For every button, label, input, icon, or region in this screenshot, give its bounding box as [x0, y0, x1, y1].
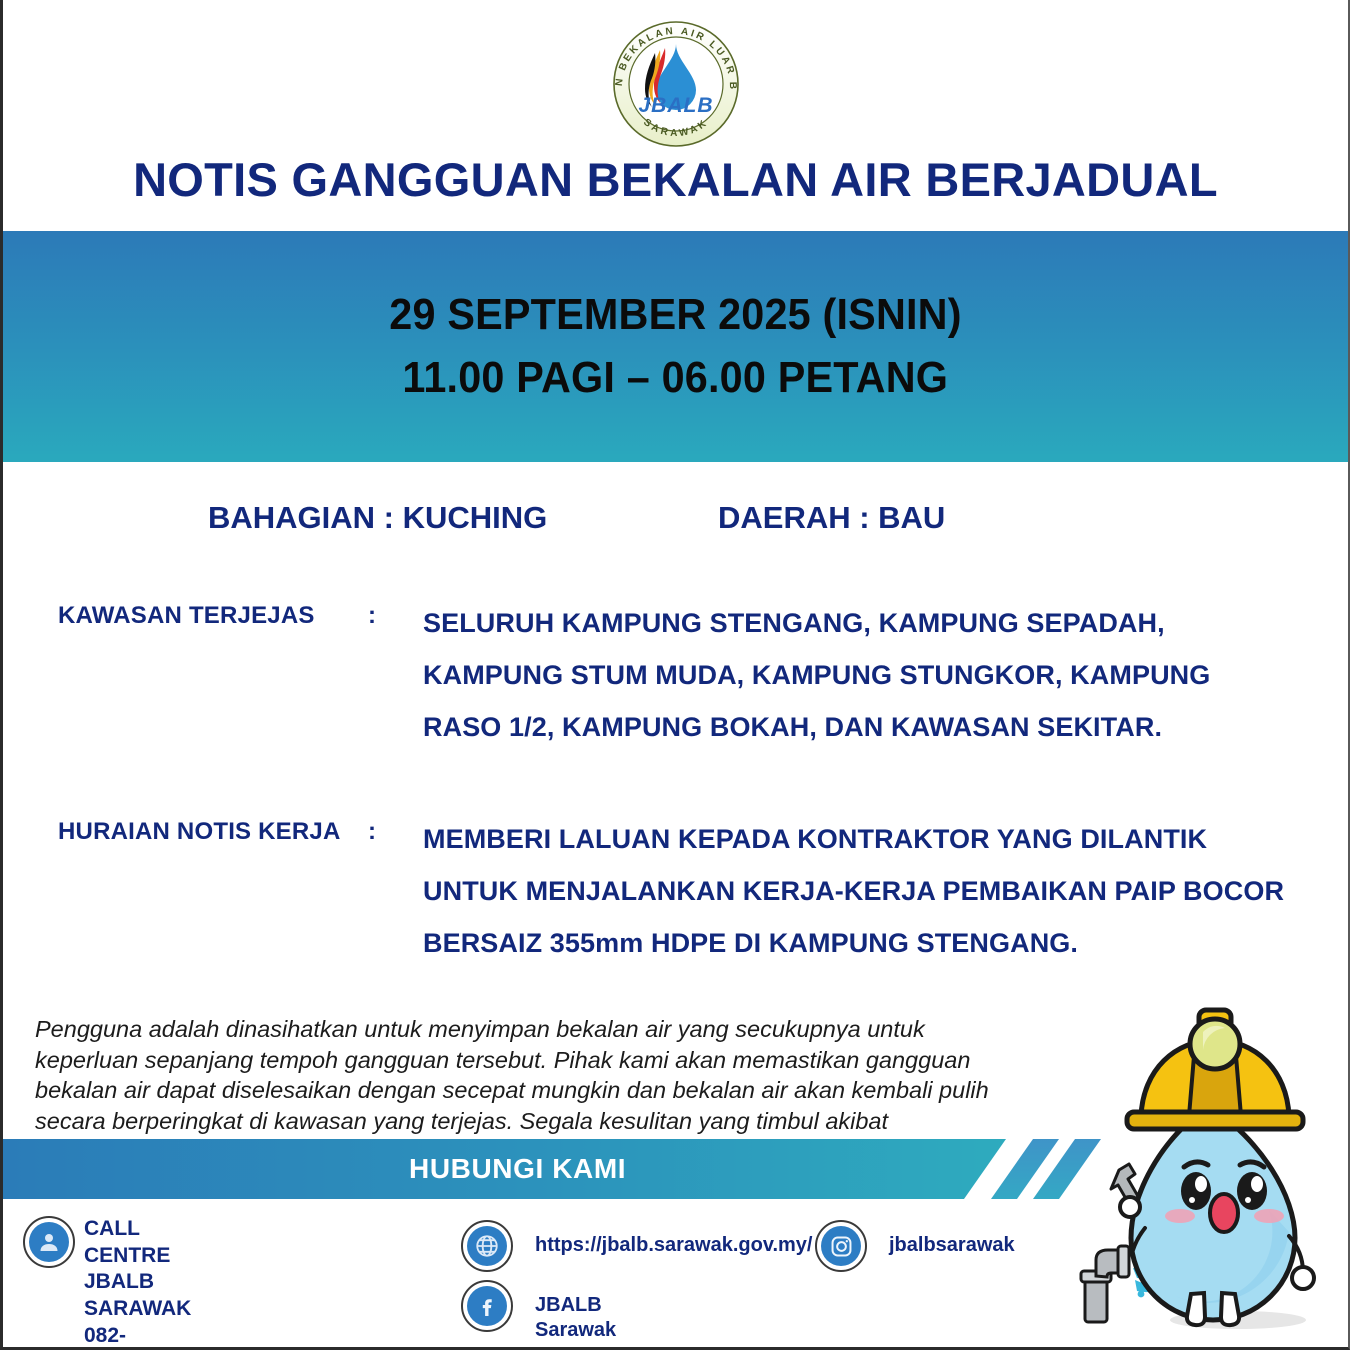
svg-text:JBALB: JBALB: [638, 94, 713, 117]
work-description-line: UNTUK MENJALANKAN KERJA-KERJA PEMBAIKAN …: [423, 865, 1284, 917]
water-droplet-mascot: [1063, 988, 1350, 1350]
work-description-line: BERSAIZ 355mm HDPE DI KAMPUNG STENGANG.: [423, 917, 1284, 969]
call-centre-text: CALL CENTRE JBALB SARAWAK 082-262211 Pej…: [84, 1216, 191, 1350]
affected-area-block: KAWASAN TERJEJAS : SELURUH KAMPUNG STENG…: [58, 597, 1210, 753]
affected-area-colon: :: [368, 597, 423, 753]
instagram-item[interactable]: jbalbsarawak: [815, 1220, 1015, 1272]
facebook-handle[interactable]: JBALB Sarawak: [535, 1280, 616, 1344]
call-centre-name: CALL CENTRE JBALB SARAWAK: [84, 1216, 191, 1323]
notice-date: 29 SEPTEMBER 2025 (ISNIN): [389, 284, 961, 346]
person-icon: [23, 1216, 75, 1268]
instagram-handle[interactable]: jbalbsarawak: [889, 1220, 1015, 1258]
affected-area-line: KAMPUNG STUM MUDA, KAMPUNG STUNGKOR, KAM…: [423, 649, 1210, 701]
call-centre-phone: 082-262211: [84, 1323, 191, 1350]
hard-hat-icon: [1127, 1010, 1303, 1129]
affected-area-line: RASO 1/2, KAMPUNG BOKAH, DAN KAWASAN SEK…: [423, 701, 1210, 753]
affected-area-line: SELURUH KAMPUNG STENGANG, KAMPUNG SEPADA…: [423, 597, 1210, 649]
affected-area-label: KAWASAN TERJEJAS: [58, 597, 368, 753]
website-url[interactable]: https://jbalb.sarawak.gov.my/: [535, 1220, 812, 1258]
jbalb-logo: JABATAN BEKALAN AIR LUAR BANDAR SARAWAK …: [602, 8, 750, 156]
facebook-item[interactable]: JBALB Sarawak: [461, 1280, 616, 1344]
logo-container: JABATAN BEKALAN AIR LUAR BANDAR SARAWAK …: [3, 8, 1348, 156]
page-title: NOTIS GANGGUAN BEKALAN AIR BERJADUAL: [3, 152, 1348, 207]
work-description-block: HURAIAN NOTIS KERJA : MEMBERI LALUAN KEP…: [58, 813, 1284, 969]
division-label: BAHAGIAN : KUCHING: [208, 500, 718, 536]
affected-area-value: SELURUH KAMPUNG STENGANG, KAMPUNG SEPADA…: [423, 597, 1210, 753]
contact-banner: HUBUNGI KAMI: [3, 1139, 1006, 1199]
instagram-icon[interactable]: [815, 1220, 867, 1272]
website-item[interactable]: https://jbalb.sarawak.gov.my/: [461, 1220, 812, 1272]
region-row: BAHAGIAN : KUCHING DAERAH : BAU: [208, 500, 1028, 536]
district-label: DAERAH : BAU: [718, 500, 945, 536]
work-description-value: MEMBERI LALUAN KEPADA KONTRAKTOR YANG DI…: [423, 813, 1284, 969]
work-description-colon: :: [368, 813, 423, 969]
contact-banner-label: HUBUNGI KAMI: [409, 1153, 626, 1185]
work-description-label: HURAIAN NOTIS KERJA: [58, 813, 368, 969]
work-description-line: MEMBERI LALUAN KEPADA KONTRAKTOR YANG DI…: [423, 813, 1284, 865]
facebook-icon[interactable]: [461, 1280, 513, 1332]
call-centre-item: CALL CENTRE JBALB SARAWAK 082-262211 Pej…: [23, 1216, 191, 1350]
notice-time: 11.00 PAGI – 06.00 PETANG: [403, 347, 949, 409]
date-time-banner: 29 SEPTEMBER 2025 (ISNIN) 11.00 PAGI – 0…: [3, 231, 1348, 462]
globe-icon[interactable]: [461, 1220, 513, 1272]
water-disruption-notice-poster: JABATAN BEKALAN AIR LUAR BANDAR SARAWAK …: [0, 0, 1350, 1350]
